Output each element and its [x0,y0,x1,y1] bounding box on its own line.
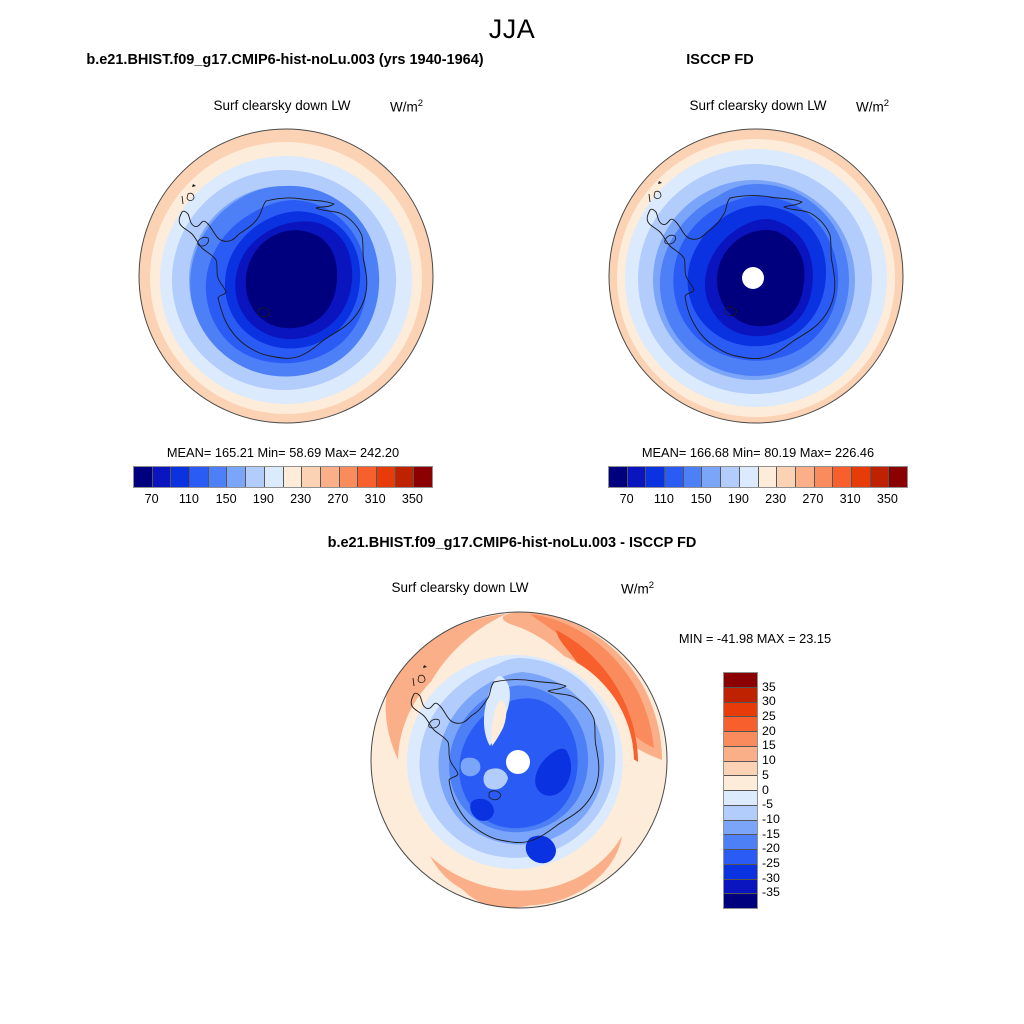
colorbar-tick-label: 20 [762,724,796,738]
colorbar-tick-label: -30 [762,871,796,885]
colorbar-segment [646,467,665,487]
colorbar-segment [833,467,852,487]
pole-data-hole [742,267,764,289]
colorbar-segment [852,467,871,487]
colorbar-tick-label: 0 [762,783,796,797]
colorbar-segment [724,894,757,908]
colorbar-segment [628,467,647,487]
colorbar-ticks-model: 70110150190230270310350 [133,492,433,510]
colorbar-segment [702,467,721,487]
map-plot-difference[interactable] [370,610,670,912]
colorbar-tick-label: 35 [762,680,796,694]
units-exponent-model: 2 [418,98,423,109]
colorbar-tick-label: 150 [216,492,237,506]
colorbar-segment [171,467,190,487]
colorbar-tick-label: -10 [762,812,796,826]
colorbar-tick-label: 5 [762,768,796,782]
colorbar-tick-label: 230 [765,492,786,506]
colorbar-segment [777,467,796,487]
colorbar-segment [796,467,815,487]
colorbar-tick-label: -15 [762,827,796,841]
colorbar-segment [321,467,340,487]
colorbar-tick-label: 30 [762,694,796,708]
colorbar-segment [153,467,172,487]
colorbar-segment [724,850,757,865]
colorbar-segment [724,880,757,895]
colorbar-segment [358,467,377,487]
colorbar-model[interactable] [133,466,433,488]
colorbar-segment [724,821,757,836]
colorbar-segment [209,467,228,487]
units-label-model: W/m2 [390,98,423,115]
units-text-model: W/m [390,100,418,115]
colorbar-difference[interactable] [723,672,758,909]
colorbar-tick-label: 310 [365,492,386,506]
colorbar-segment [724,791,757,806]
units-text-difference: W/m [621,582,649,597]
colorbar-tick-label: 25 [762,709,796,723]
colorbar-segment [265,467,284,487]
colorbar-segment [414,467,432,487]
units-label-difference: W/m2 [621,580,654,597]
colorbar-tick-label: 270 [802,492,823,506]
stats-difference: MIN = -41.98 MAX = 23.15 [640,631,870,646]
colorbar-segment [889,467,907,487]
colorbar-tick-label: 310 [840,492,861,506]
colorbar-segment [724,776,757,791]
colorbar-tick-label: 110 [654,492,674,506]
colorbar-segment [815,467,834,487]
colorbar-segment [724,717,757,732]
colorbar-tick-label: 270 [327,492,348,506]
season-title: JJA [0,14,1024,45]
colorbar-segment [724,806,757,821]
colorbar-tick-label: 350 [877,492,898,506]
variable-label-model: Surf clearsky down LW [132,98,432,113]
colorbar-tick-label: 10 [762,753,796,767]
colorbar-segment [724,747,757,762]
colorbar-tick-label: 190 [728,492,749,506]
colorbar-ticks-difference: 35302520151050-5-10-15-20-25-30-35 [762,672,802,907]
colorbar-segment [665,467,684,487]
map-plot-obs[interactable] [608,128,906,428]
colorbar-segment [609,467,628,487]
colorbar-tick-label: -5 [762,797,796,811]
colorbar-tick-label: 190 [253,492,274,506]
colorbar-segment [871,467,890,487]
colorbar-tick-label: 70 [145,492,159,506]
colorbar-tick-label: 15 [762,738,796,752]
panel-title-model: b.e21.BHIST.f09_g17.CMIP6-hist-noLu.003 … [0,52,570,68]
colorbar-tick-label: -20 [762,841,796,855]
pole-data-hole [506,750,530,774]
colorbar-segment [724,762,757,777]
panel-title-obs: ISCCP FD [570,52,870,68]
colorbar-segment [724,865,757,880]
map-plot-model[interactable] [138,128,436,428]
colorbar-tick-label: -35 [762,885,796,899]
colorbar-tick-label: 150 [691,492,712,506]
units-exponent-obs: 2 [884,98,889,109]
stats-obs: MEAN= 166.68 Min= 80.19 Max= 226.46 [608,445,908,460]
units-text-obs: W/m [856,100,884,115]
colorbar-segment [721,467,740,487]
units-exponent-difference: 2 [649,580,654,591]
colorbar-segment [724,688,757,703]
colorbar-segment [724,673,757,688]
colorbar-segment [246,467,265,487]
colorbar-segment [759,467,778,487]
colorbar-segment [134,467,153,487]
colorbar-ticks-obs: 70110150190230270310350 [608,492,908,510]
colorbar-segment [684,467,703,487]
colorbar-segment [724,732,757,747]
variable-label-difference: Surf clearsky down LW [310,580,610,595]
colorbar-tick-label: 230 [290,492,311,506]
colorbar-segment [396,467,415,487]
colorbar-segment [740,467,759,487]
colorbar-tick-label: 110 [179,492,199,506]
colorbar-segment [302,467,321,487]
colorbar-segment [284,467,303,487]
units-label-obs: W/m2 [856,98,889,115]
colorbar-segment [724,703,757,718]
colorbar-segment [724,835,757,850]
colorbar-segment [227,467,246,487]
colorbar-segment [377,467,396,487]
panel-title-difference: b.e21.BHIST.f09_g17.CMIP6-hist-noLu.003 … [0,535,1024,551]
colorbar-tick-label: 70 [620,492,634,506]
colorbar-obs[interactable] [608,466,908,488]
colorbar-tick-label: -25 [762,856,796,870]
colorbar-segment [190,467,209,487]
stats-model: MEAN= 165.21 Min= 58.69 Max= 242.20 [133,445,433,460]
colorbar-segment [340,467,359,487]
colorbar-tick-label: 350 [402,492,423,506]
